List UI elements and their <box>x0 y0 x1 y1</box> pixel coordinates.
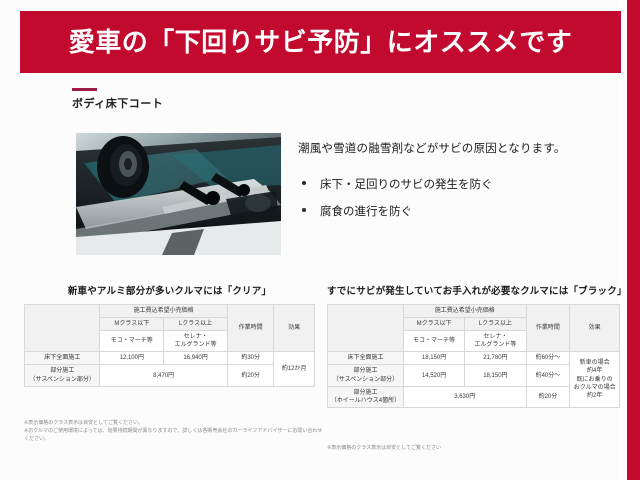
section-rule <box>72 88 97 91</box>
header-class-m: Mクラス以下 <box>403 318 464 331</box>
cell-price-span: 8,470円 <box>100 365 228 386</box>
footnote-text: ※表示価格のクラス表示は目安としてご覧ください。※おクルマのご使用環境によっては… <box>24 419 324 443</box>
cell-price-l: 16,940円 <box>164 352 228 365</box>
right-accent-bar <box>627 0 640 480</box>
table-row: 部分施工（サスペンション部分） 8,470円 約20分 <box>25 365 315 386</box>
cell-price-span: 3,630円 <box>403 386 526 407</box>
header-class-m-example: モコ・マーチ等 <box>403 331 464 352</box>
cell-price-l: 18,150円 <box>465 365 526 386</box>
car-undercarriage-photo <box>76 133 281 255</box>
row-label: 床下全面施工 <box>25 352 100 365</box>
row-label: 床下全面施工 <box>328 352 404 365</box>
header-time: 作業時間 <box>227 305 273 352</box>
header-class-m-example: モコ・マーチ等 <box>100 331 164 352</box>
cell-time: 約20分 <box>526 386 570 407</box>
cell-price-m: 18,150円 <box>403 352 464 365</box>
header-class-l-example: セレナ・エルグランド等 <box>164 331 228 352</box>
header-class-m: Mクラス以下 <box>100 318 164 331</box>
headline-text: 愛車の「下回りサビ予防」にオススメです <box>69 29 573 55</box>
cell-price-m: 12,100円 <box>100 352 164 365</box>
list-item: 床下・足回りのサビの発生を防ぐ <box>298 176 598 192</box>
row-label: 部分施工（サスペンション部分） <box>328 365 404 386</box>
cell-price-m: 14,520円 <box>403 365 464 386</box>
row-label: 部分施工（サスペンション部分） <box>25 365 100 386</box>
footnote-text: ※表示価格のクラス表示は目安としてご覧ください <box>327 444 617 452</box>
header-class-l-example: セレナ・エルグランド等 <box>465 331 526 352</box>
benefit-list: 床下・足回りのサビの発生を防ぐ 腐食の進行を防ぐ <box>298 176 598 219</box>
table-row: 床下全面施工 12,100円 16,940円 約30分 約12か月 <box>25 352 315 365</box>
description-block: 潮風や雪道の融雪剤などがサビの原因となります。 床下・足回りのサビの発生を防ぐ … <box>298 140 598 230</box>
advertisement-page: 愛車の「下回りサビ予防」にオススメです ボディ床下コート <box>0 0 640 480</box>
price-table-clear: 施工費込希望小売価格 作業時間 効果 Mクラス以下 Lクラス以上 モコ・マーチ等… <box>24 304 315 387</box>
section-title: ボディ床下コート <box>72 95 163 111</box>
footnote-clear: ※表示価格のクラス表示は目安としてご覧ください。※おクルマのご使用環境によっては… <box>24 419 324 443</box>
table-header-row: 施工費込希望小売価格 作業時間 効果 <box>328 305 620 318</box>
cell-time: 約40分～ <box>526 365 570 386</box>
cell-time: 約60分～ <box>526 352 570 365</box>
cell-price-l: 21,780円 <box>465 352 526 365</box>
price-table-black: 施工費込希望小売価格 作業時間 効果 Mクラス以下 Lクラス以上 モコ・マーチ等… <box>327 304 620 408</box>
header-blank <box>25 305 100 352</box>
list-item: 腐食の進行を防ぐ <box>298 203 598 219</box>
header-effect: 効果 <box>274 305 315 352</box>
header-price-group: 施工費込希望小売価格 <box>403 305 526 318</box>
lead-text: 潮風や雪道の融雪剤などがサビの原因となります。 <box>298 140 598 156</box>
header-price-group: 施工費込希望小売価格 <box>100 305 228 318</box>
table-caption-black: すでにサビが発生していてお手入れが必要なクルマには「ブラック」 <box>327 283 620 297</box>
header-time: 作業時間 <box>526 305 570 352</box>
table-caption-clear: 新車やアルミ部分が多いクルマには「クリア」 <box>24 283 315 297</box>
header-class-l: Lクラス以上 <box>164 318 228 331</box>
table-header-row: 施工費込希望小売価格 作業時間 効果 <box>25 305 315 318</box>
price-table-black-block: すでにサビが発生していてお手入れが必要なクルマには「ブラック」 施工費込希望小売… <box>327 283 620 408</box>
section-heading: ボディ床下コート <box>72 88 163 111</box>
row-label: 部分施工（ホイールハウス4箇所） <box>328 386 404 407</box>
header-blank <box>328 305 404 352</box>
footnote-black: ※表示価格のクラス表示は目安としてご覧ください <box>327 444 617 452</box>
cell-time: 約30分 <box>227 352 273 365</box>
table-row: 床下全面施工 18,150円 21,780円 約60分～ 新車の場合約4年既にお… <box>328 352 620 365</box>
cell-effect: 新車の場合約4年既にお乗りのおクルマの場合約2年 <box>570 352 620 407</box>
cell-time: 約20分 <box>227 365 273 386</box>
header-class-l: Lクラス以上 <box>465 318 526 331</box>
header-effect: 効果 <box>570 305 620 352</box>
cell-effect: 約12か月 <box>274 352 315 386</box>
price-table-clear-block: 新車やアルミ部分が多いクルマには「クリア」 施工費込希望小売価格 作業時間 効果… <box>24 283 315 387</box>
photo-illustration <box>76 133 281 255</box>
headline-banner: 愛車の「下回りサビ予防」にオススメです <box>20 11 621 73</box>
